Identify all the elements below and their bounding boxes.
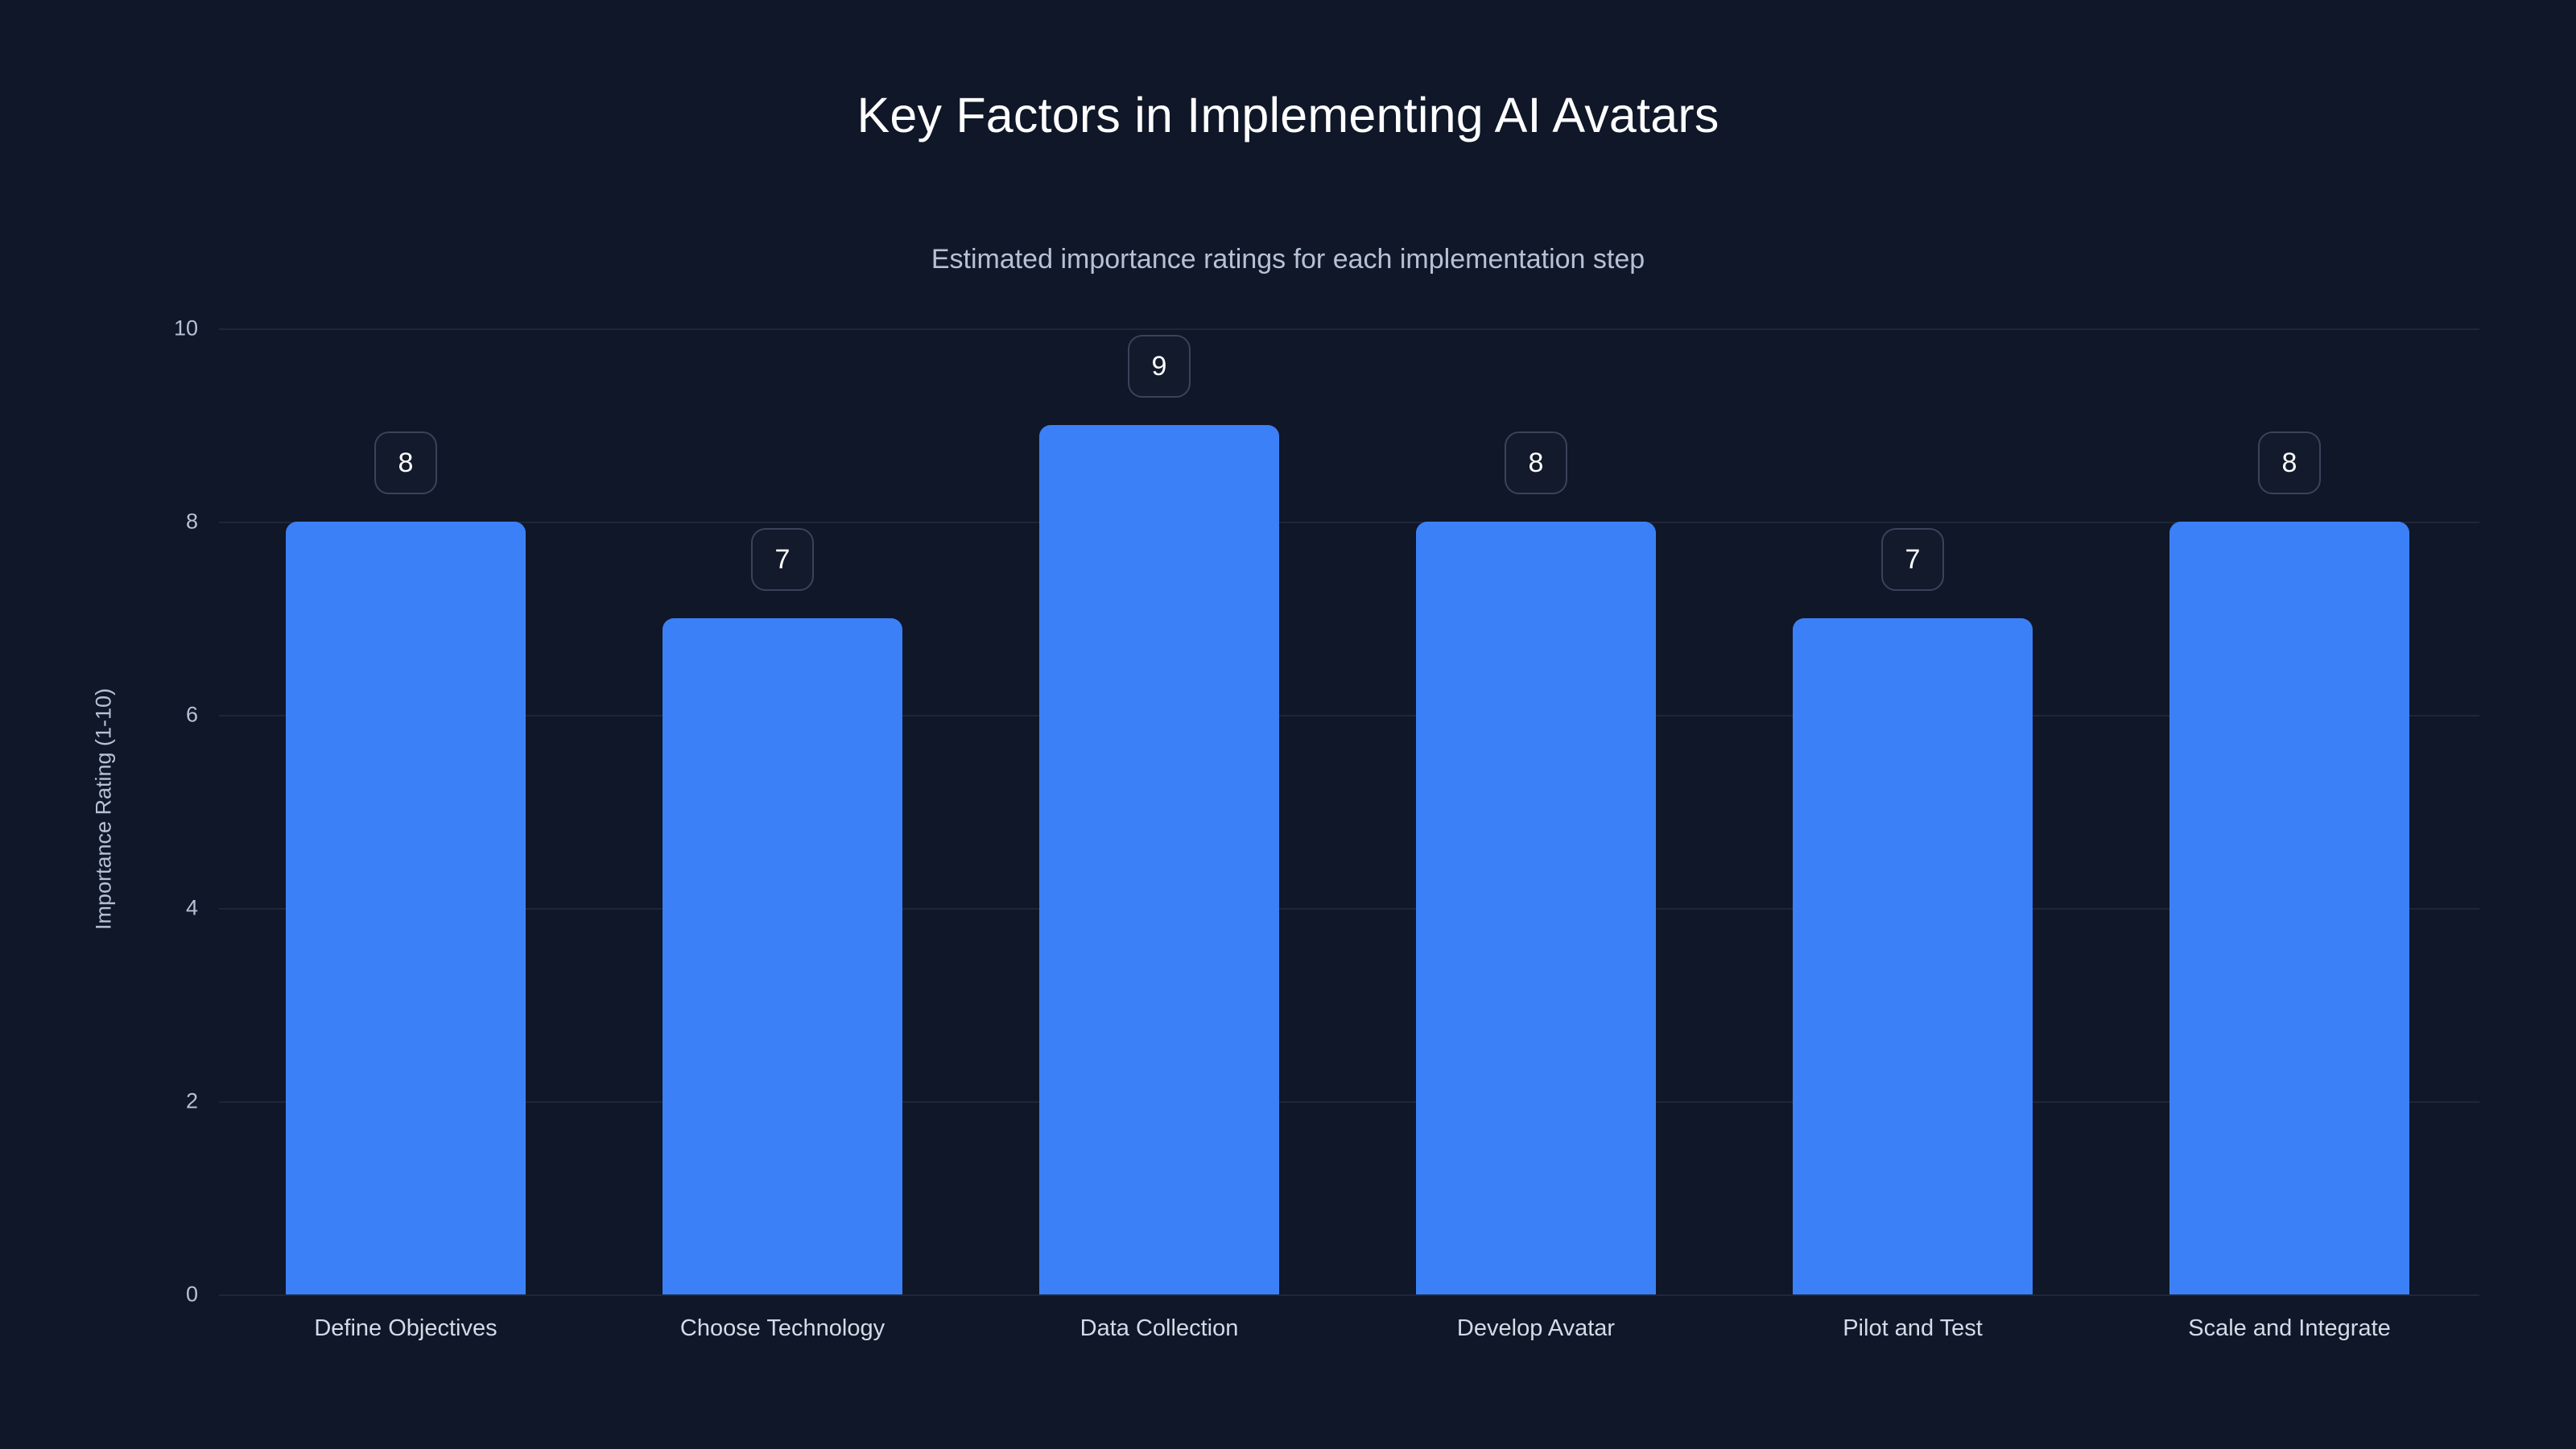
x-tick-label: Define Objectives xyxy=(314,1315,497,1342)
bar-group[interactable]: 9 xyxy=(1039,328,1279,1294)
bar-group[interactable]: 8 xyxy=(1416,328,1656,1294)
x-tick-label: Scale and Integrate xyxy=(2188,1315,2391,1342)
gridline xyxy=(219,1294,2479,1296)
gridline xyxy=(219,1101,2479,1103)
bar[interactable] xyxy=(663,618,902,1294)
plot-area: 879878 xyxy=(219,328,2479,1294)
gridline xyxy=(219,908,2479,910)
x-tick-label: Develop Avatar xyxy=(1457,1315,1615,1342)
bar-value-badge: 8 xyxy=(2258,431,2321,494)
y-axis-title: Importance Rating (1-10) xyxy=(92,688,117,930)
gridline xyxy=(219,715,2479,716)
x-tick-label: Choose Technology xyxy=(680,1315,885,1342)
chart-subtitle: Estimated importance ratings for each im… xyxy=(0,244,2576,275)
bar-value-badge: 9 xyxy=(1128,335,1191,398)
bar-value-badge: 8 xyxy=(1505,431,1567,494)
bar[interactable] xyxy=(1416,522,1656,1294)
y-tick-label: 0 xyxy=(153,1282,198,1307)
bar-value-badge: 7 xyxy=(751,528,814,591)
bar-group[interactable]: 8 xyxy=(286,328,526,1294)
bar-group[interactable]: 8 xyxy=(2169,328,2409,1294)
bar[interactable] xyxy=(1793,618,2033,1294)
bar-group[interactable]: 7 xyxy=(1793,328,2033,1294)
x-tick-label: Pilot and Test xyxy=(1843,1315,1983,1342)
gridline xyxy=(219,328,2479,330)
bar[interactable] xyxy=(2169,522,2409,1294)
y-tick-label: 4 xyxy=(153,896,198,921)
y-tick-label: 8 xyxy=(153,510,198,535)
x-tick-label: Data Collection xyxy=(1080,1315,1239,1342)
bar[interactable] xyxy=(1039,425,1279,1294)
bar-value-badge: 7 xyxy=(1881,528,1944,591)
gridline xyxy=(219,522,2479,523)
bar-group[interactable]: 7 xyxy=(663,328,902,1294)
y-tick-label: 10 xyxy=(153,316,198,341)
y-tick-label: 2 xyxy=(153,1089,198,1114)
chart-title: Key Factors in Implementing AI Avatars xyxy=(0,87,2576,143)
bar-chart-canvas: Key Factors in Implementing AI Avatars E… xyxy=(0,0,2576,1449)
bar[interactable] xyxy=(286,522,526,1294)
bar-value-badge: 8 xyxy=(374,431,437,494)
y-tick-label: 6 xyxy=(153,703,198,728)
